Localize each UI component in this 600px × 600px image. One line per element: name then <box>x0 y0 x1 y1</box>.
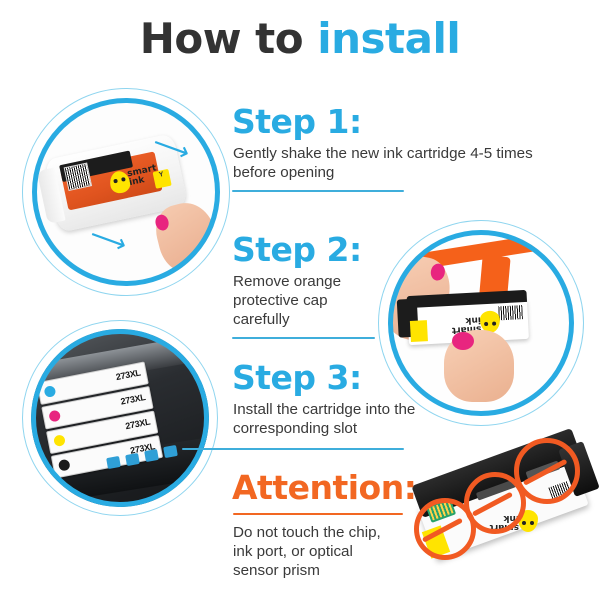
slot-tab <box>144 449 159 462</box>
steps-text-column: Step 1: Gently shake the new ink cartrid… <box>232 0 542 600</box>
infographic-page: How to install smart ink Y ⟶ ⟶ <box>0 0 600 600</box>
color-code-label: Y <box>153 169 172 189</box>
attention-body: Do not touch the chip, ink port, or opti… <box>233 523 398 580</box>
step-3-heading: Step 3: <box>232 360 540 396</box>
step-3-photo-image: 273XL 273XL 273XL 273XL <box>31 329 209 507</box>
attention-block: Attention: <box>232 470 540 506</box>
step-3-body: Install the cartridge into the correspon… <box>233 400 433 438</box>
divider-after-step-1 <box>232 190 404 192</box>
barcode-icon <box>64 163 92 191</box>
slot-tab <box>163 445 178 458</box>
divider-after-step-2 <box>232 337 375 339</box>
divider-under-attention <box>233 513 403 515</box>
attention-heading: Attention: <box>232 470 540 506</box>
step-1-photo-image: smart ink Y ⟶ ⟶ <box>32 98 220 286</box>
step-1-body: Gently shake the new ink cartridge 4-5 t… <box>233 144 540 182</box>
step-2-block: Step 2: Remove orange protective cap car… <box>232 232 540 329</box>
step-3-block: Step 3: Install the cartridge into the c… <box>232 360 540 438</box>
step-3-photo: 273XL 273XL 273XL 273XL <box>31 329 209 507</box>
divider-after-step-3 <box>182 448 404 450</box>
step-1-heading: Step 1: <box>232 104 540 140</box>
step-2-heading: Step 2: <box>232 232 540 268</box>
attention-body-block: Do not touch the chip, ink port, or opti… <box>232 519 540 580</box>
step-1-block: Step 1: Gently shake the new ink cartrid… <box>232 104 540 182</box>
slot-tab <box>125 453 140 466</box>
step-2-body: Remove orange protective cap carefully <box>233 272 383 329</box>
step-1-photo: smart ink Y ⟶ ⟶ <box>32 98 220 286</box>
cartridge-stack: 273XL 273XL 273XL 273XL <box>36 361 163 480</box>
slot-tab <box>106 456 121 469</box>
